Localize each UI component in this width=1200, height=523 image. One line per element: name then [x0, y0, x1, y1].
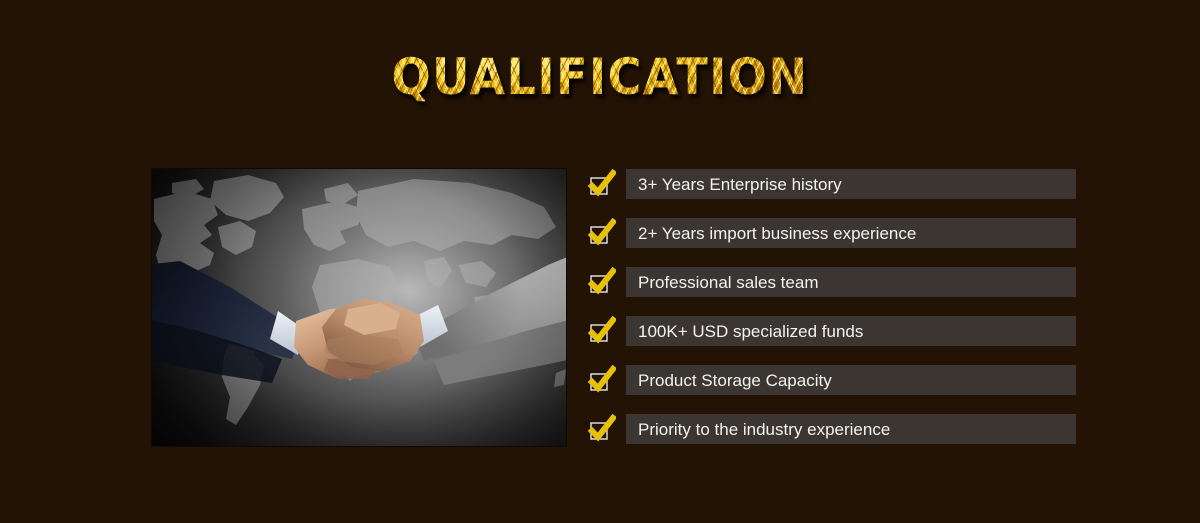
list-item-bar: 2+ Years import business experience — [626, 218, 1076, 248]
list-item-label: 100K+ USD specialized funds — [638, 323, 863, 340]
list-item-label: Professional sales team — [638, 274, 818, 291]
check-box-icon — [586, 267, 616, 297]
check-box-icon — [586, 169, 616, 199]
list-item-bar: Product Storage Capacity — [626, 365, 1076, 395]
qualification-list: 3+ Years Enterprise history 2+ Years imp… — [586, 169, 1076, 444]
page-title: QUALIFICATION — [392, 52, 809, 102]
list-item-bar: Priority to the industry experience — [626, 414, 1076, 444]
check-box-icon — [586, 218, 616, 248]
check-box-icon — [586, 365, 616, 395]
list-item[interactable]: 100K+ USD specialized funds — [586, 316, 1076, 346]
list-item[interactable]: 3+ Years Enterprise history — [586, 169, 1076, 199]
qualification-banner: QUALIFICATION — [0, 0, 1200, 523]
list-item[interactable]: Product Storage Capacity — [586, 365, 1076, 395]
list-item-label: Product Storage Capacity — [638, 372, 832, 389]
list-item[interactable]: Priority to the industry experience — [586, 414, 1076, 444]
check-box-icon — [586, 316, 616, 346]
page-title-container: QUALIFICATION — [0, 52, 1200, 98]
list-item-bar: Professional sales team — [626, 267, 1076, 297]
list-item-bar: 3+ Years Enterprise history — [626, 169, 1076, 199]
list-item-label: 3+ Years Enterprise history — [638, 176, 842, 193]
list-item-bar: 100K+ USD specialized funds — [626, 316, 1076, 346]
list-item-label: Priority to the industry experience — [638, 421, 890, 438]
handshake-graphic — [152, 169, 566, 446]
handshake-photo — [152, 169, 566, 446]
list-item-label: 2+ Years import business experience — [638, 225, 916, 242]
check-box-icon — [586, 414, 616, 444]
list-item[interactable]: Professional sales team — [586, 267, 1076, 297]
list-item[interactable]: 2+ Years import business experience — [586, 218, 1076, 248]
